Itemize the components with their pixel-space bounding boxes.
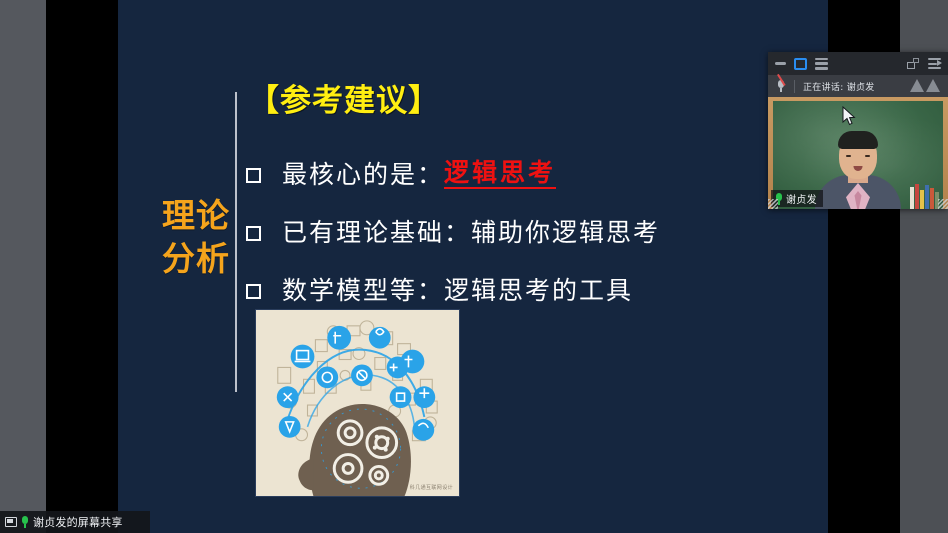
image-credit: 科几通互联网设计 — [410, 484, 453, 491]
resize-handle-bottom-right[interactable] — [938, 199, 948, 209]
video-panel-toolbar — [768, 52, 948, 75]
mic-muted-icon[interactable] — [768, 80, 794, 92]
mic-on-icon — [21, 516, 29, 528]
letterbox-left — [46, 0, 118, 533]
participant-video-tile[interactable]: 谢贞发 — [768, 97, 948, 209]
speaking-indicator-bar: 正在讲话: 谢贞发 — [768, 75, 948, 97]
shared-slide: 理论 分析 【参考建议】 最核心的是： 逻辑思考 已有理论基础：辅助你逻辑思考 … — [118, 0, 828, 533]
cursor-arrow-icon — [842, 106, 856, 126]
bullet-item-1: 最核心的是： 逻辑思考 — [246, 148, 806, 200]
bullet-list: 最核心的是： 逻辑思考 已有理论基础：辅助你逻辑思考 数学模型等：逻辑思考的工具 — [246, 148, 806, 322]
bullet-item-2-text: 已有理论基础：辅助你逻辑思考 — [282, 220, 660, 245]
gallery-view-icon[interactable] — [815, 58, 828, 70]
bullet-item-3-text: 数学模型等：逻辑思考的工具 — [282, 278, 633, 303]
participant-name-tag: 谢贞发 — [771, 190, 823, 207]
screen-share-status-bar: 谢贞发的屏幕共享 — [0, 511, 150, 533]
section-label-line-1: 理论 — [146, 195, 246, 238]
vertical-divider — [235, 92, 237, 392]
bullet-item-1-text: 最核心的是： — [282, 162, 444, 187]
brain-illustration: 科几通互联网设计 — [255, 309, 460, 497]
participant-name: 谢贞发 — [786, 191, 817, 206]
section-label: 理论 分析 — [146, 195, 246, 281]
bookshelf-decor — [910, 183, 940, 209]
resize-handle-bottom-left[interactable] — [768, 199, 778, 209]
speaking-label: 正在讲话: 谢贞发 — [803, 80, 875, 93]
popout-video-icon[interactable] — [907, 58, 919, 69]
video-panel[interactable]: 正在讲话: 谢贞发 谢贞发 — [768, 52, 948, 209]
audio-waveform-icon — [910, 79, 940, 92]
screen: 理论 分析 【参考建议】 最核心的是： 逻辑思考 已有理论基础：辅助你逻辑思考 … — [0, 0, 948, 533]
minimize-icon[interactable] — [775, 62, 786, 65]
speaker-view-icon[interactable] — [794, 58, 807, 70]
slide-heading: 【参考建议】 — [248, 86, 440, 117]
bullet-item-2: 已有理论基础：辅助你逻辑思考 — [246, 206, 806, 258]
checkbox-square-icon — [246, 284, 261, 299]
collapse-video-icon[interactable] — [928, 58, 941, 69]
desktop-left-strip — [0, 0, 46, 533]
screen-share-label: 谢贞发的屏幕共享 — [33, 514, 123, 530]
section-label-line-2: 分析 — [146, 238, 246, 281]
participant-figure — [815, 137, 901, 209]
checkbox-square-icon — [246, 168, 261, 183]
toolbar-divider — [794, 80, 795, 93]
screen-share-icon — [5, 517, 17, 527]
bullet-item-1-highlight: 逻辑思考 — [444, 160, 556, 189]
checkbox-square-icon — [246, 226, 261, 241]
brain-illustration-graphic — [256, 310, 459, 496]
